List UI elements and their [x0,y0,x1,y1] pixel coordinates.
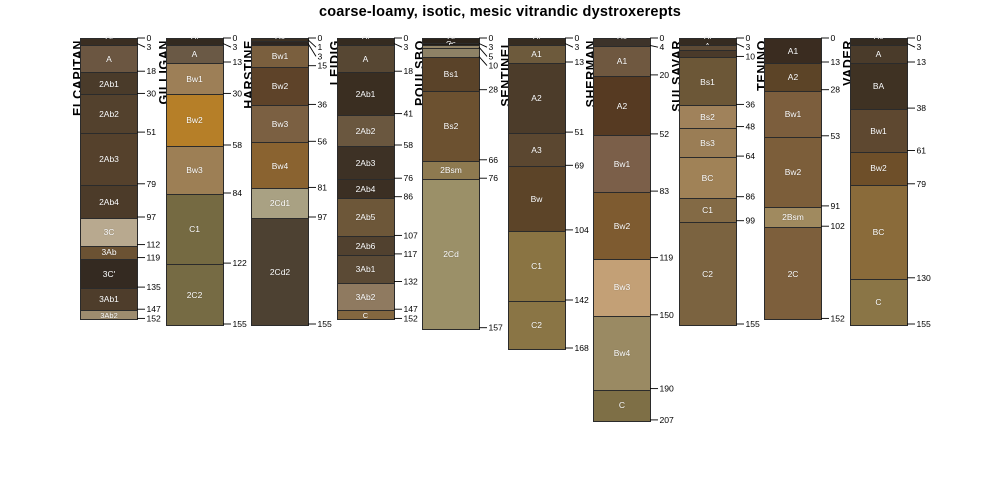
horizon-segment[interactable]: C1 [680,198,736,222]
horizon-segment[interactable]: BC [680,157,736,198]
horizon-label: C1 [189,225,200,234]
depth-tick-line [394,44,402,48]
depth-tick-label: 119 [147,253,161,263]
horizon-label: 2Bsm [440,166,462,175]
horizon-label: 2Ab3 [99,155,119,164]
depth-tick-label: 135 [147,282,162,292]
horizon-segment[interactable]: 2Cd [423,179,479,328]
horizon-segment[interactable]: 2Ab1 [338,72,394,114]
horizon-segment[interactable]: Bw1 [851,109,907,151]
depth-tick-line [479,47,487,56]
depth-axis: 0313386179130155 [907,38,967,498]
horizon-segment[interactable]: Bw1 [594,135,650,192]
depth-tick-label: 53 [831,131,841,141]
depth-tick-label: 107 [403,230,418,240]
depth-tick-label: 3 [403,42,408,52]
depth-tick-line [137,44,145,48]
horizon-label: 2Ab2 [99,110,119,119]
horizon-segment[interactable] [423,48,479,57]
horizon-label: Bw4 [272,162,289,171]
profile-column: OeABABw1Bw2BCC [850,38,908,326]
depth-tick-label: 51 [147,127,157,137]
horizon-segment[interactable]: Bw3 [252,105,308,142]
horizon-label: 3Ab2 [356,293,376,302]
horizon-label: Bw4 [614,349,631,358]
horizon-segment[interactable]: Bs1 [680,57,736,105]
horizon-segment[interactable]: Bw1 [252,45,308,67]
horizon-segment[interactable]: C2 [680,222,736,325]
horizon-label: Bs2 [444,122,459,131]
horizon-label: BC [873,228,885,237]
horizon-label: Bs1 [700,78,715,87]
horizon-label: A [106,55,112,64]
depth-tick-label: 4 [660,42,665,52]
horizon-segment[interactable]: C [851,279,907,325]
depth-tick-label: 207 [660,415,675,425]
horizon-segment[interactable]: C1 [509,231,565,301]
horizon-label: Bs1 [444,70,459,79]
horizon-segment[interactable]: 2C2 [167,264,223,325]
depth-tick-label: 104 [574,225,589,235]
depth-tick-label: 20 [660,70,670,80]
depth-tick-line [565,44,573,48]
profile-column: OiABs1Bs2Bs3BCC1C2 [679,38,737,326]
horizon-label: 2Bsm [782,213,804,222]
horizon-segment[interactable]: C [338,310,394,319]
horizon-segment[interactable]: 2Bsm [423,161,479,179]
horizon-label: 2Ab3 [356,159,376,168]
horizon-segment[interactable]: Bw4 [252,142,308,188]
horizon-segment[interactable]: A1 [594,46,650,76]
depth-tick-label: 61 [916,146,926,156]
horizon-segment[interactable]: Bw1 [167,63,223,94]
depth-tick-label: 10 [489,61,499,71]
horizon-segment[interactable]: A2 [594,76,650,135]
horizon-label: Bw2 [186,116,203,125]
page-title: coarse-loamy, isotic, mesic vitrandic dy… [0,4,1000,20]
horizon-segment[interactable]: 3Ab2 [338,283,394,311]
horizon-segment[interactable]: Bs2 [680,105,736,127]
depth-tick-label: 51 [574,127,584,137]
depth-tick-label: 155 [232,319,247,329]
horizon-segment[interactable]: A [851,45,907,63]
horizon-segment[interactable]: C [594,390,650,421]
horizon-label: Bw2 [272,82,289,91]
depth-tick-line [736,44,744,48]
horizon-segment[interactable]: 3C' [81,259,137,289]
depth-tick-label: 76 [489,173,499,183]
horizon-label: C1 [702,206,713,215]
depth-tick-label: 83 [660,186,670,196]
horizon-label: 2Ab4 [99,198,119,207]
depth-tick-label: 58 [232,140,242,150]
horizon-label: 3C [104,228,115,237]
horizon-segment[interactable]: 3Ab1 [338,255,394,283]
depth-tick-label: 190 [660,384,675,394]
profile-column: OiA1A2A3BwC1C2 [508,38,566,350]
horizon-segment[interactable]: A1 [509,45,565,63]
horizon-label: Bw3 [614,283,631,292]
profile-column: A1A2Bw1Bw22Bsm2C [764,38,822,320]
horizon-segment[interactable]: 2C [765,227,821,319]
depth-tick-label: 13 [831,57,841,67]
depth-tick-label: 13 [574,57,584,67]
horizon-segment[interactable]: 3Ab1 [81,288,137,310]
depth-tick-label: 168 [574,343,589,353]
horizon-segment[interactable]: 3Ab [81,246,137,259]
horizon-segment[interactable]: BA [851,63,907,109]
horizon-segment[interactable]: Bw4 [594,316,650,390]
depth-tick-label: 48 [745,122,755,132]
horizon-label: Bs2 [700,113,715,122]
horizon-segment[interactable]: Bw2 [765,137,821,207]
horizon-label: C [619,401,625,410]
horizon-label: C1 [531,262,542,271]
profile-column: OeBw1Bw2Bw3Bw42Cd12Cd2 [251,38,309,326]
horizon-segment[interactable]: A [167,45,223,63]
depth-tick-label: 0 [831,33,836,43]
horizon-segment[interactable] [680,50,736,57]
horizon-segment[interactable]: 2Ab6 [338,236,394,254]
horizon-label: 2Ab4 [356,185,376,194]
horizon-label: C [363,312,368,320]
depth-tick-label: 41 [403,109,413,119]
horizon-segment[interactable]: A [338,45,394,73]
horizon-segment[interactable]: 2Cd1 [252,188,308,218]
depth-tick-label: 18 [403,66,413,76]
depth-tick-label: 81 [318,182,328,192]
horizon-label: Bw1 [272,52,289,61]
horizon-label: Bw2 [870,164,887,173]
horizon-segment[interactable]: 3Ab2 [81,310,137,319]
horizon-label: 2C2 [187,291,203,300]
depth-tick-label: 152 [403,313,418,323]
horizon-label: 3Ab1 [99,295,119,304]
depth-tick-label: 152 [831,313,846,323]
horizon-label: A2 [788,73,798,82]
depth-tick-label: 112 [147,240,161,250]
depth-tick-line [308,44,316,57]
horizon-label: Bw1 [870,127,887,136]
depth-tick-label: 130 [916,273,931,283]
depth-tick-label: 150 [660,310,675,320]
depth-tick-label: 15 [318,61,328,71]
horizon-segment[interactable]: 2Ab3 [81,133,137,185]
depth-tick-line [650,45,658,47]
depth-tick-label: 79 [916,179,926,189]
horizon-label: Bs3 [700,139,715,148]
depth-tick-label: 36 [745,99,755,109]
horizon-segment[interactable]: A2 [509,63,565,133]
depth-tick-label: 102 [831,221,846,231]
horizon-segment[interactable]: BC [851,185,907,279]
horizon-label: 2C [788,270,799,279]
horizon-segment[interactable]: 2Ab4 [338,179,394,197]
horizon-segment[interactable]: 2Ab5 [338,198,394,237]
horizon-label: Bw [531,195,543,204]
horizon-label: 3Ab [101,248,116,257]
horizon-label: 2Cd1 [270,199,290,208]
depth-tick-label: 86 [745,192,755,202]
horizon-label: 2Ab6 [356,242,376,251]
horizon-label: Bw1 [186,75,203,84]
horizon-label: A1 [788,47,798,56]
horizon-segment[interactable]: A [81,45,137,73]
depth-tick-label: 99 [745,216,755,226]
horizon-segment[interactable]: 3C [81,218,137,246]
horizon-label: C2 [702,270,713,279]
horizon-label: A [876,50,882,59]
horizon-label: A2 [617,102,627,111]
horizon-label: BC [702,174,714,183]
depth-tick-label: 155 [318,319,333,329]
profile-column: OiOaEBs1Bs22Bsm2Cd [422,38,480,330]
depth-tick-label: 36 [318,99,328,109]
horizon-label: A [363,55,369,64]
horizon-label: Bw2 [785,168,802,177]
depth-tick-label: 3 [574,42,579,52]
depth-tick-label: 18 [147,66,157,76]
depth-tick-line [223,44,231,48]
horizon-segment[interactable]: Bs1 [423,57,479,90]
horizon-segment[interactable]: 2Ab1 [81,72,137,94]
horizon-label: C [875,298,881,307]
depth-tick-label: 91 [831,201,841,211]
profile-column: OiA2Ab12Ab22Ab32Ab42Ab52Ab63Ab13Ab2C [337,38,395,320]
horizon-segment[interactable]: 2Ab3 [338,146,394,179]
depth-tick-label: 97 [147,212,157,222]
horizon-label: Bw1 [614,160,631,169]
depth-tick-label: 28 [489,85,499,95]
soil-profile-plot: coarse-loamy, isotic, mesic vitrandic dy… [0,0,1000,450]
depth-tick-label: 132 [403,277,418,287]
depth-tick-label: 38 [916,103,926,113]
depth-tick-label: 84 [232,188,242,198]
horizon-segment[interactable]: Bw2 [594,192,650,258]
horizon-segment[interactable]: 2Ab2 [338,115,394,146]
horizon-segment[interactable] [594,39,650,46]
depth-tick-line [907,44,915,48]
horizon-segment[interactable]: C1 [167,194,223,264]
depth-tick-label: 157 [489,323,504,333]
horizon-label: A3 [531,146,541,155]
horizon-segment[interactable]: A2 [765,63,821,91]
horizon-label: 2Ab2 [356,127,376,136]
horizon-label: Bw3 [272,120,289,129]
depth-tick-label: 122 [232,258,247,268]
depth-tick-label: 119 [660,253,674,263]
horizon-segment[interactable]: 2Bsm [765,207,821,227]
horizon-segment[interactable]: A3 [509,133,565,166]
depth-tick-label: 3 [232,42,237,52]
horizon-label: A1 [531,50,541,59]
horizon-segment[interactable]: C2 [509,301,565,349]
horizon-segment[interactable]: Bs3 [680,128,736,158]
depth-tick-line [479,56,487,65]
depth-tick-label: 64 [745,151,755,161]
depth-tick-line [479,44,487,48]
horizon-label: Bw2 [614,222,631,231]
depth-tick-label: 155 [916,319,931,329]
depth-tick-label: 76 [403,173,413,183]
depth-tick-label: 10 [745,51,755,61]
horizon-label: 3Ab1 [356,265,376,274]
depth-tick-label: 13 [232,57,242,67]
horizon-segment[interactable]: Bw2 [252,67,308,106]
horizon-segment[interactable]: Bw2 [851,152,907,185]
horizon-label: A1 [617,57,627,66]
depth-tick-label: 97 [318,212,328,222]
depth-tick-label: 28 [831,85,841,95]
horizon-label: A [192,50,198,59]
depth-tick-label: 79 [147,179,157,189]
horizon-segment[interactable]: A1 [765,39,821,63]
horizon-segment[interactable]: Bw3 [594,259,650,316]
profile-column: OiABw1Bw2Bw3C12C2 [166,38,224,326]
profile-column: OeA1A2Bw1Bw2Bw3Bw4C [593,38,651,422]
depth-tick-label: 66 [489,155,499,165]
depth-tick-label: 86 [403,192,413,202]
horizon-label: 2Ab1 [99,80,119,89]
depth-tick-label: 142 [574,295,589,305]
depth-tick-label: 13 [916,57,926,67]
horizon-label: 2Cd [443,250,459,259]
horizon-segment[interactable]: Bw3 [167,146,223,194]
horizon-label: BA [873,82,884,91]
horizon-label: C2 [531,321,542,330]
horizon-segment[interactable]: Bs2 [423,91,479,161]
horizon-label: A2 [531,94,541,103]
horizon-label: 2Ab1 [356,90,376,99]
horizon-label: 3C' [103,270,116,279]
horizon-segment[interactable]: Bw [509,166,565,231]
horizon-label: Bw3 [186,166,203,175]
horizon-segment[interactable]: Bw2 [167,94,223,146]
depth-tick-label: 30 [147,88,157,98]
depth-tick-label: 30 [232,88,242,98]
horizon-label: 3Ab2 [100,312,118,320]
depth-tick-label: 117 [403,249,417,259]
depth-tick-label: 56 [318,136,328,146]
horizon-label: 2Cd2 [270,268,290,277]
horizon-label: Bw1 [785,110,802,119]
horizon-label: 2Ab5 [356,213,376,222]
depth-tick-label: 155 [745,319,760,329]
depth-tick-label: 3 [916,42,921,52]
horizon-segment[interactable]: Bw1 [765,91,821,137]
depth-tick-label: 69 [574,160,584,170]
horizon-segment[interactable]: 2Cd2 [252,218,308,325]
depth-tick-label: 52 [660,129,670,139]
profile-column: OiA2Ab12Ab22Ab32Ab43C3Ab3C'3Ab13Ab2 [80,38,138,320]
depth-tick-label: 58 [403,140,413,150]
depth-tick-label: 3 [147,42,152,52]
horizon-segment[interactable]: 2Ab2 [81,94,137,133]
depth-tick-label: 152 [147,313,162,323]
horizon-segment[interactable]: 2Ab4 [81,185,137,218]
